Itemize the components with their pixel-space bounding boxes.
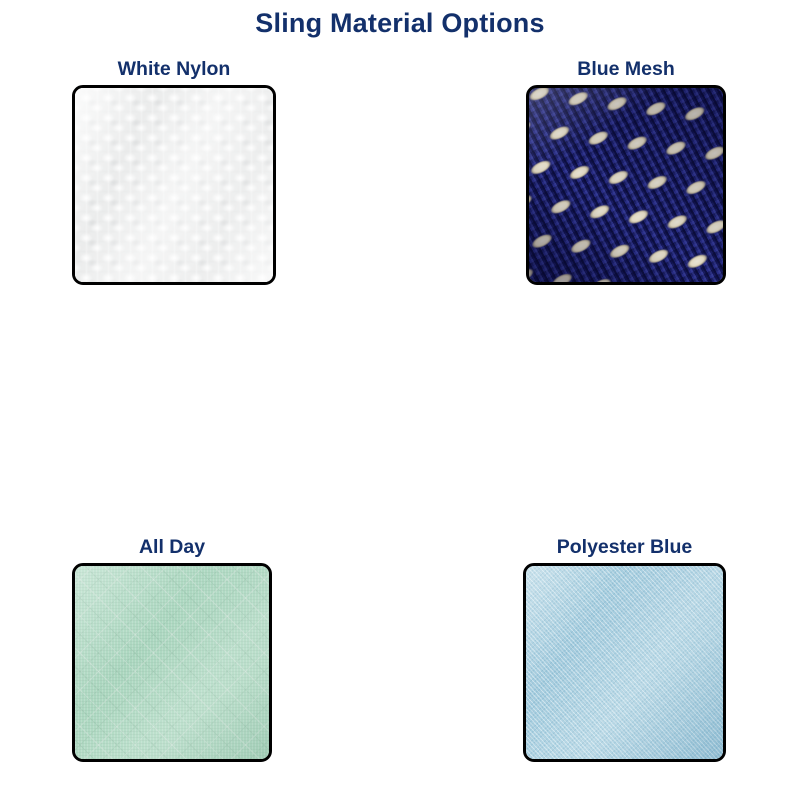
swatch-label-polyester-blue: Polyester Blue bbox=[523, 536, 726, 559]
allday-sheen-layer bbox=[75, 566, 269, 759]
swatch-image-blue-mesh[interactable] bbox=[526, 85, 726, 285]
swatch-image-polyester-blue[interactable] bbox=[523, 563, 726, 762]
swatch-card-all-day[interactable]: All Day bbox=[72, 563, 272, 762]
material-options-page: Sling Material Options White Nylon Blue … bbox=[0, 0, 800, 800]
swatch-card-polyester-blue[interactable]: Polyester Blue bbox=[523, 563, 726, 762]
swatch-card-blue-mesh[interactable]: Blue Mesh bbox=[526, 85, 726, 285]
polyester-sheen-layer bbox=[526, 566, 723, 759]
mesh-shading-layer bbox=[529, 88, 723, 282]
swatch-image-all-day[interactable] bbox=[72, 563, 272, 762]
swatch-label-white-nylon: White Nylon bbox=[72, 58, 276, 81]
nylon-sheen-layer bbox=[75, 88, 273, 282]
swatch-label-all-day: All Day bbox=[72, 536, 272, 559]
swatch-card-white-nylon[interactable]: White Nylon bbox=[72, 85, 276, 285]
swatch-label-blue-mesh: Blue Mesh bbox=[526, 58, 726, 81]
page-title: Sling Material Options bbox=[0, 8, 800, 39]
swatch-image-white-nylon[interactable] bbox=[72, 85, 276, 285]
